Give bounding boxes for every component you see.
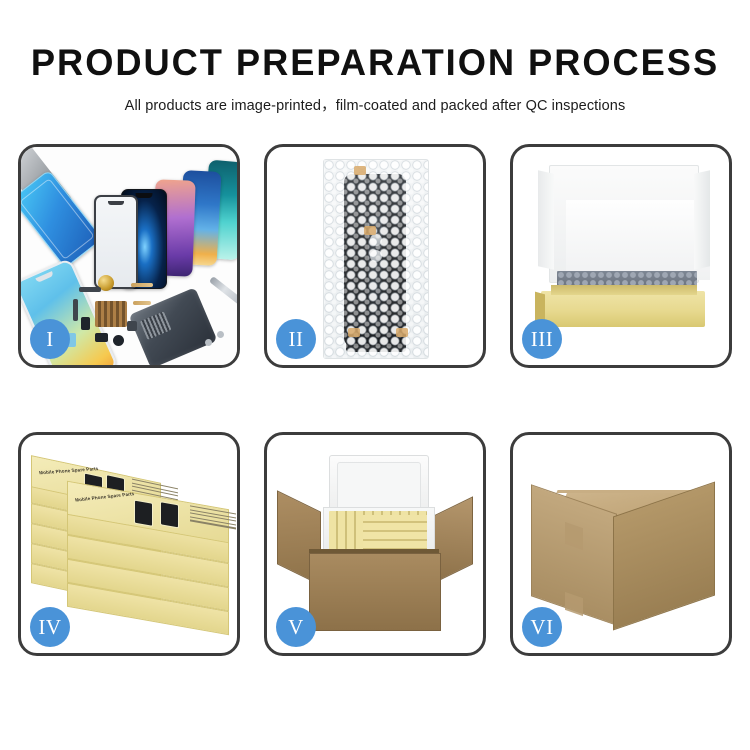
tape-icon	[396, 328, 408, 337]
phone-chassis-icon	[129, 287, 218, 365]
bubble-bag-icon	[323, 159, 429, 359]
bubble-wrap-texture	[324, 160, 428, 358]
carton-front-panel	[309, 553, 441, 631]
flex-cable-icon	[131, 283, 153, 287]
process-step-panel-5: V	[264, 432, 486, 656]
carton-top-seam	[556, 490, 699, 493]
tape-icon	[364, 226, 376, 235]
flex-cable-icon	[133, 301, 151, 305]
blue-film-phone-icon	[21, 170, 103, 269]
step-badge-6: VI	[522, 607, 562, 647]
chip-icon	[81, 317, 90, 330]
box-lid-icon	[549, 165, 699, 283]
page-subtitle: All products are image-printed，film-coat…	[0, 94, 750, 115]
box-base-icon	[541, 291, 705, 327]
screw-icon	[205, 339, 212, 346]
label-phone-image	[160, 501, 179, 528]
process-step-grid: I II	[18, 144, 732, 684]
step-badge-4: IV	[30, 607, 70, 647]
step-badge-2: II	[276, 319, 316, 359]
product-preparation-page: PRODUCT PREPARATION PROCESS All products…	[0, 0, 750, 750]
screen-protector-icon	[94, 195, 138, 289]
tape-icon	[354, 166, 366, 175]
button-part-icon	[127, 321, 137, 331]
screw-icon	[217, 331, 224, 338]
label-phone-image	[134, 500, 153, 527]
process-step-panel-3: III	[510, 144, 732, 368]
process-step-panel-6: VI	[510, 432, 732, 656]
screw-grid-icon	[95, 301, 127, 327]
page-header: PRODUCT PREPARATION PROCESS All products…	[0, 0, 750, 115]
screwdriver-icon	[209, 276, 237, 305]
process-step-panel-4: Mobile Phone Spare Parts	[18, 432, 240, 656]
step-badge-5: V	[276, 607, 316, 647]
process-step-panel-2: II	[264, 144, 486, 368]
step-badge-1: I	[30, 319, 70, 359]
page-title: PRODUCT PREPARATION PROCESS	[8, 44, 743, 81]
foam-sheet-icon	[566, 200, 710, 280]
step-badge-3: III	[522, 319, 562, 359]
box-inner-edge	[551, 285, 697, 295]
antenna-part-icon	[73, 299, 78, 321]
tape-icon	[348, 328, 360, 337]
small-part-icon	[79, 287, 101, 292]
chip-icon	[95, 333, 108, 342]
speaker-icon	[113, 335, 124, 346]
process-step-panel-1: I	[18, 144, 240, 368]
